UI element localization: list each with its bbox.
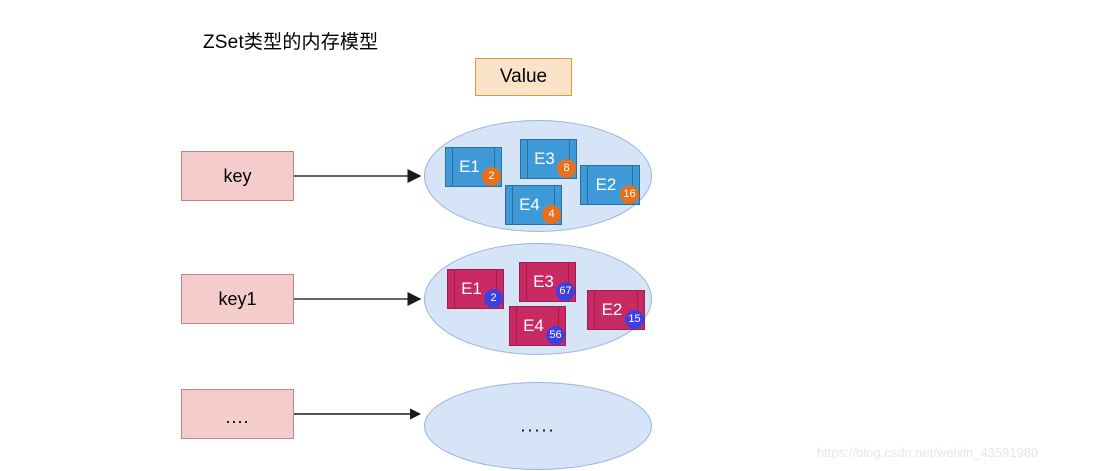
member-score-badge: 56 bbox=[546, 326, 565, 345]
member-chip-0-2: E4 4 bbox=[505, 185, 562, 225]
member-name: E2 bbox=[596, 176, 617, 193]
diagram-canvas: ZSet类型的内存模型 Value key E1 2 E3 8 E4 bbox=[0, 0, 1093, 471]
key-box-label-2: .... bbox=[225, 408, 249, 426]
member-score-badge: 8 bbox=[557, 159, 576, 178]
member-chip-0-1: E3 8 bbox=[520, 139, 577, 179]
member-score-badge: 16 bbox=[620, 185, 639, 204]
member-score-badge: 2 bbox=[482, 167, 501, 186]
member-chip-1-3: E2 15 bbox=[587, 290, 645, 330]
member-chip-1-1: E3 67 bbox=[519, 262, 576, 302]
member-score-badge: 4 bbox=[542, 205, 561, 224]
member-name: E4 bbox=[523, 317, 544, 334]
member-chip-1-0: E1 2 bbox=[447, 269, 504, 309]
value-ellipse-1: E1 2 E3 67 E4 56 E2 15 bbox=[424, 243, 652, 355]
member-chip-0-0: E1 2 bbox=[445, 147, 502, 187]
key-box-label-1: key1 bbox=[218, 289, 256, 310]
page-title: ZSet类型的内存模型 bbox=[203, 27, 378, 54]
member-name: E3 bbox=[534, 150, 555, 167]
member-score-badge: 67 bbox=[556, 282, 575, 301]
member-score-badge: 2 bbox=[484, 289, 503, 308]
value-legend-box: Value bbox=[475, 58, 572, 96]
member-name: E2 bbox=[602, 301, 623, 318]
member-name: E1 bbox=[461, 280, 482, 297]
key-box-0[interactable]: key bbox=[181, 151, 294, 201]
member-chip-0-3: E2 16 bbox=[580, 165, 640, 205]
value-ellipse-0: E1 2 E3 8 E4 4 E2 16 bbox=[424, 120, 652, 232]
value-ellipse-2: ..... bbox=[424, 382, 652, 470]
value-legend-label: Value bbox=[500, 66, 547, 88]
key-box-2[interactable]: .... bbox=[181, 389, 294, 439]
key-box-1[interactable]: key1 bbox=[181, 274, 294, 324]
ellipse-placeholder-label: ..... bbox=[425, 416, 651, 437]
member-score-badge: 15 bbox=[625, 310, 644, 329]
member-name: E3 bbox=[533, 273, 554, 290]
member-chip-1-2: E4 56 bbox=[509, 306, 566, 346]
member-name: E4 bbox=[519, 196, 540, 213]
watermark: https://blog.csdn.net/weixin_43591980 bbox=[817, 445, 1038, 460]
member-name: E1 bbox=[459, 158, 480, 175]
key-box-label-0: key bbox=[223, 166, 251, 187]
